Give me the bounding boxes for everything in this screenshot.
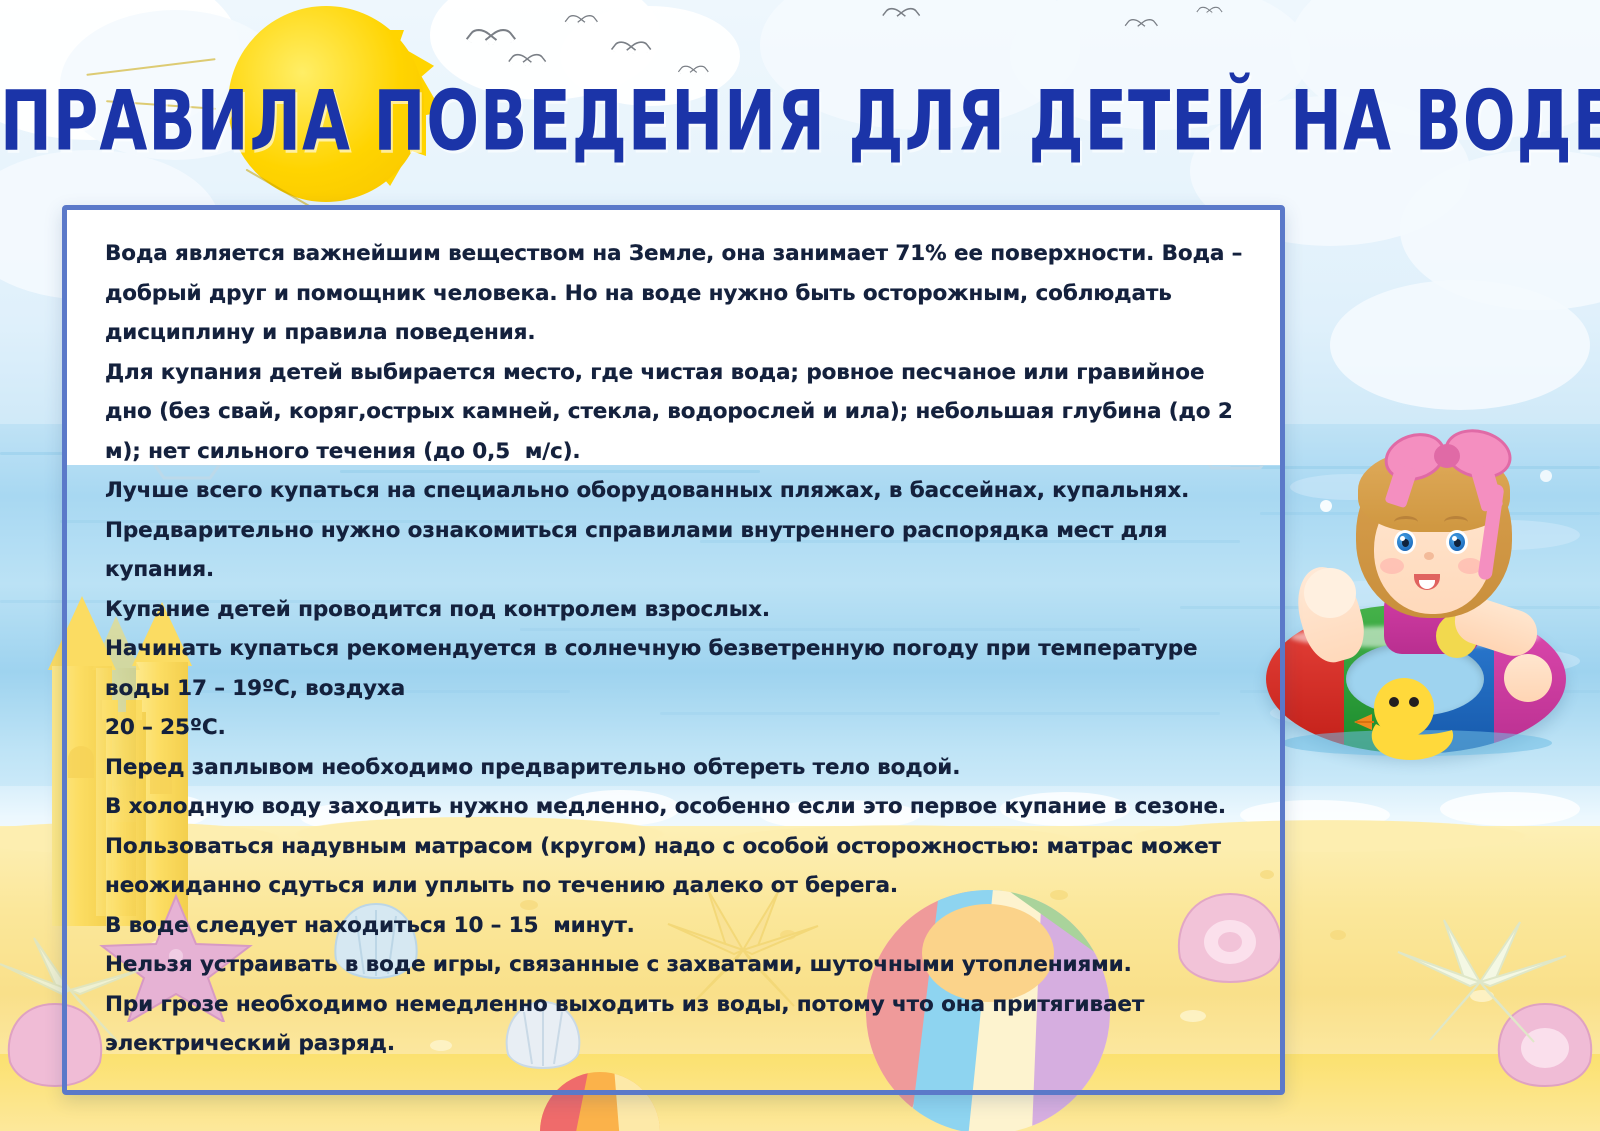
- panel-text-container: Вода является важнейшим веществом на Зем…: [105, 234, 1245, 1070]
- seagull-icon: [613, 42, 650, 61]
- poster-root: Вода является важнейшим веществом на Зем…: [0, 0, 1600, 1131]
- seagull-icon: [1198, 7, 1222, 19]
- seagull-icon: [510, 54, 545, 72]
- girl-in-swim-ring-illustration: [1258, 418, 1588, 758]
- hand: [1504, 654, 1552, 702]
- seagull-icon: [884, 8, 919, 26]
- palm-leaf-icon: [1380, 912, 1580, 1052]
- girl-head: [1350, 442, 1518, 614]
- cloud-icon: [1330, 280, 1590, 410]
- content-panel: Вода является важнейшим веществом на Зем…: [62, 205, 1285, 1095]
- page-title: ПРАВИЛА ПОВЕДЕНИЯ ДЛЯ ДЕТЕЙ НА ВОДЕ: [0, 72, 1600, 170]
- seagull-icon: [567, 15, 598, 30]
- seagull-icon: [469, 29, 515, 52]
- rules-body-text: Вода является важнейшим веществом на Зем…: [105, 234, 1245, 1064]
- rubber-duck-icon: [1354, 672, 1464, 768]
- seagull-icon: [1127, 19, 1158, 34]
- hair-bow-icon: [1384, 426, 1514, 490]
